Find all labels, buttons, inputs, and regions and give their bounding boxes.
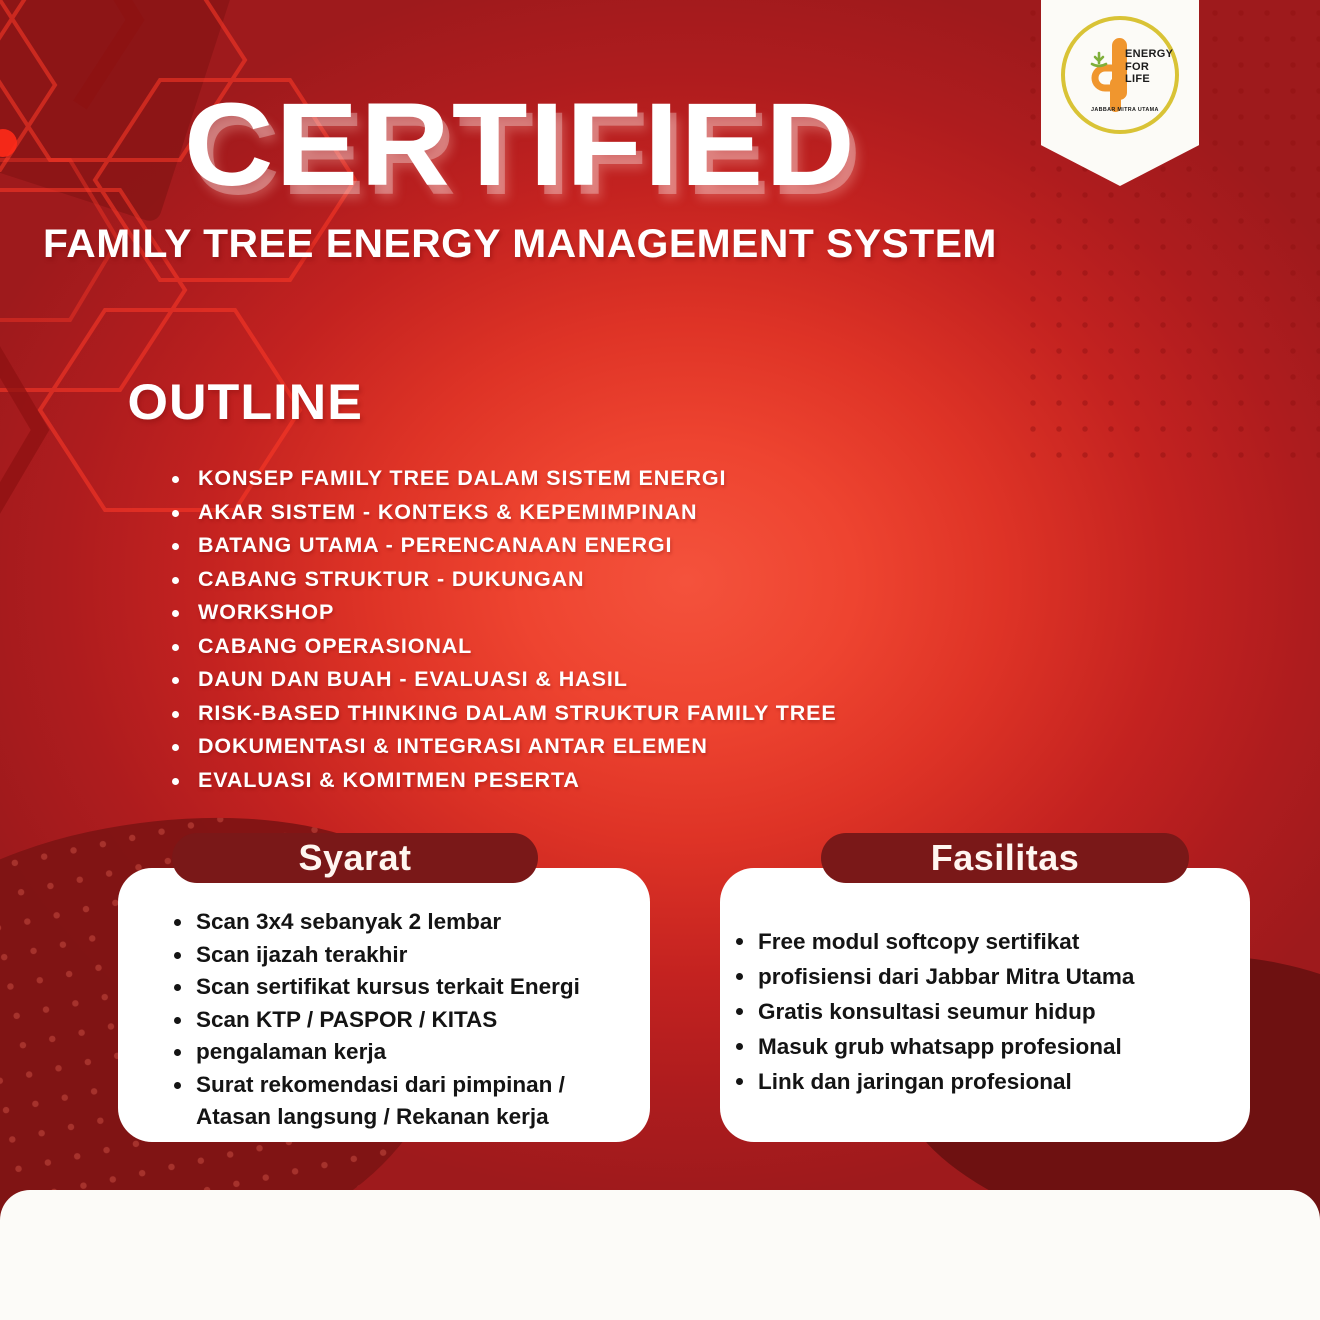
list-item: RISK-BASED THINKING DALAM STRUKTUR FAMIL… xyxy=(168,697,1068,731)
headline-block: CERTIFIED FAMILY TREE ENERGY MANAGEMENT … xyxy=(0,86,1040,267)
list-item: DAUN DAN BUAH - EVALUASI & HASIL xyxy=(168,663,1068,697)
logo-company-name: JABBAR MITRA UTAMA xyxy=(1091,107,1159,113)
page-subtitle: FAMILY TREE ENERGY MANAGEMENT SYSTEM xyxy=(0,222,1050,267)
list-item: DOKUMENTASI & INTEGRASI ANTAR ELEMEN xyxy=(168,730,1068,764)
fasilitas-card: Free modul softcopy sertifikat profisien… xyxy=(720,868,1250,1142)
list-item: Surat rekomendasi dari pimpinan / Atasan… xyxy=(166,1069,636,1134)
list-item: pengalaman kerja xyxy=(166,1036,636,1069)
syarat-list: Scan 3x4 sebanyak 2 lembar Scan ijazah t… xyxy=(166,906,636,1134)
list-item: Scan 3x4 sebanyak 2 lembar xyxy=(166,906,636,939)
fasilitas-list: Free modul softcopy sertifikat profisien… xyxy=(728,924,1228,1099)
company-logo-ribbon: ENERGY FOR LIFE JABBAR MITRA UTAMA xyxy=(1041,0,1199,186)
list-item: EVALUASI & KOMITMEN PESERTA xyxy=(168,764,1068,798)
logo-tagline: ENERGY FOR LIFE xyxy=(1125,48,1173,86)
list-item: Scan ijazah terakhir xyxy=(166,939,636,972)
list-item: WORKSHOP xyxy=(168,596,1068,630)
outline-heading: OUTLINE xyxy=(127,373,362,431)
list-item: KONSEP FAMILY TREE DALAM SISTEM ENERGI xyxy=(168,462,1068,496)
list-item: Link dan jaringan profesional xyxy=(728,1064,1228,1099)
outline-list: KONSEP FAMILY TREE DALAM SISTEM ENERGI A… xyxy=(168,462,1068,797)
list-item: BATANG UTAMA - PERENCANAAN ENERGI xyxy=(168,529,1068,563)
list-item: Masuk grub whatsapp profesional xyxy=(728,1029,1228,1064)
list-item: Scan KTP / PASPOR / KITAS xyxy=(166,1004,636,1037)
list-item: CABANG OPERASIONAL xyxy=(168,630,1068,664)
syarat-card-title: Syarat xyxy=(172,833,538,883)
syarat-card: Scan 3x4 sebanyak 2 lembar Scan ijazah t… xyxy=(118,868,650,1142)
fasilitas-card-title: Fasilitas xyxy=(821,833,1189,883)
list-item: CABANG STRUKTUR - DUKUNGAN xyxy=(168,563,1068,597)
list-item: Scan sertifikat kursus terkait Energi xyxy=(166,971,636,1004)
jmu-energy-logo-icon: ENERGY FOR LIFE JABBAR MITRA UTAMA xyxy=(1061,16,1179,134)
list-item: Free modul softcopy sertifikat xyxy=(728,924,1228,959)
list-item: AKAR SISTEM - KONTEKS & KEPEMIMPINAN xyxy=(168,496,1068,530)
certification-flyer: ENERGY FOR LIFE JABBAR MITRA UTAMA CERTI… xyxy=(0,0,1320,1320)
list-item: profisiensi dari Jabbar Mitra Utama xyxy=(728,959,1228,994)
list-item: Gratis konsultasi seumur hidup xyxy=(728,994,1228,1029)
page-title: CERTIFIED xyxy=(184,86,857,204)
contact-footer xyxy=(0,1190,1320,1320)
